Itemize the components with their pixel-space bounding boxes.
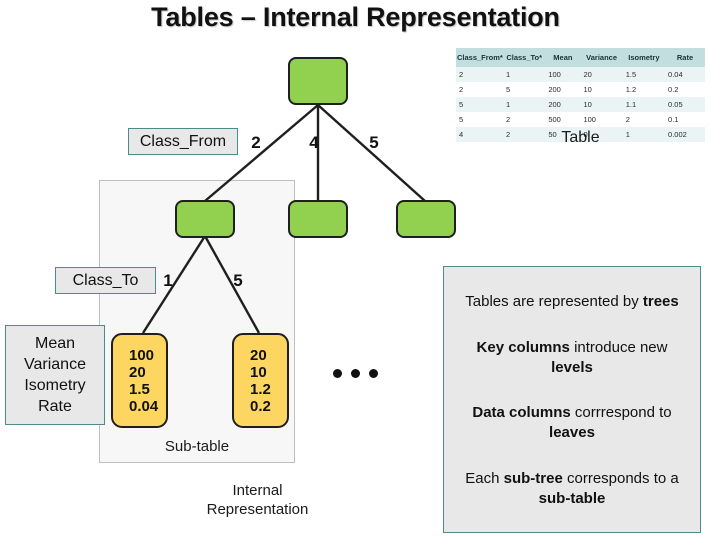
leaf-value: 1.5 bbox=[117, 381, 166, 398]
table-cell: 2 bbox=[456, 67, 503, 82]
leaf-value: 20 bbox=[117, 364, 166, 381]
leaf-value: 1.2 bbox=[238, 381, 287, 398]
table-cell: 100 bbox=[545, 67, 580, 82]
data-column-label-isometry: Isometry bbox=[24, 375, 85, 396]
table-cell: 100 bbox=[580, 112, 622, 127]
ellipsis-dot bbox=[333, 369, 342, 378]
edge-label-sub-1: 5 bbox=[231, 271, 245, 291]
table-cell: 0.05 bbox=[665, 97, 705, 112]
table-row: 2 5 200 10 1.2 0.2 bbox=[456, 82, 705, 97]
table-cell: 2 bbox=[623, 112, 665, 127]
table-header-cell: Class_To* bbox=[503, 48, 545, 67]
table-header-row: Class_From* Class_To* Mean Variance Isom… bbox=[456, 48, 705, 67]
table-cell: 200 bbox=[545, 97, 580, 112]
internal-representation-caption-line1: Internal bbox=[150, 481, 365, 500]
table-header-cell: Rate bbox=[665, 48, 705, 67]
table-row: 2 1 100 20 1.5 0.04 bbox=[456, 67, 705, 82]
data-column-label-mean: Mean bbox=[35, 333, 75, 354]
source-table: Class_From* Class_To* Mean Variance Isom… bbox=[456, 48, 705, 142]
table-header-cell: Variance bbox=[580, 48, 622, 67]
table-cell: 10 bbox=[580, 97, 622, 112]
tree-leaf-0[interactable]: 100 20 1.5 0.04 bbox=[111, 333, 168, 428]
internal-representation-caption-line2: Representation bbox=[150, 500, 365, 519]
data-column-label-variance: Variance bbox=[24, 354, 86, 375]
table-cell: 1.2 bbox=[623, 82, 665, 97]
table-cell: 5 bbox=[503, 82, 545, 97]
table-cell: 200 bbox=[545, 82, 580, 97]
leaf-value: 100 bbox=[117, 347, 166, 364]
edge-label-root-1: 4 bbox=[306, 133, 322, 153]
table-header-cell: Mean bbox=[545, 48, 580, 67]
sub-table-caption: Sub-table bbox=[99, 438, 295, 455]
table-cell: 5 bbox=[456, 97, 503, 112]
summary-box: Tables are represented by trees Key colu… bbox=[443, 266, 701, 533]
leaf-value: 0.04 bbox=[117, 398, 166, 415]
ellipsis-dot bbox=[369, 369, 378, 378]
table-row: 5 1 200 10 1.1 0.05 bbox=[456, 97, 705, 112]
summary-line-1: Key columns introduce new levels bbox=[458, 338, 686, 378]
table-cell: 0.04 bbox=[665, 67, 705, 82]
source-table-grid: Class_From* Class_To* Mean Variance Isom… bbox=[456, 48, 705, 142]
tree-node-root[interactable] bbox=[288, 57, 348, 105]
ellipsis-dot bbox=[351, 369, 360, 378]
summary-line-0: Tables are represented by trees bbox=[458, 292, 686, 312]
table-cell: 1 bbox=[503, 97, 545, 112]
ellipsis-indicator bbox=[333, 369, 378, 378]
leaf-value: 10 bbox=[238, 364, 287, 381]
table-caption: Table bbox=[456, 129, 705, 147]
table-header-cell: Class_From* bbox=[456, 48, 503, 67]
callout-class-to[interactable]: Class_To bbox=[55, 267, 156, 294]
edge-label-sub-0: 1 bbox=[161, 271, 175, 291]
table-cell: 10 bbox=[580, 82, 622, 97]
callout-class-from-label: Class_From bbox=[140, 131, 226, 152]
table-row: 5 2 500 100 2 0.1 bbox=[456, 112, 705, 127]
edge-label-root-0: 2 bbox=[248, 133, 264, 153]
table-cell: 5 bbox=[456, 112, 503, 127]
callout-data-columns[interactable]: Mean Variance Isometry Rate bbox=[5, 325, 105, 425]
table-cell: 1.5 bbox=[623, 67, 665, 82]
table-cell: 2 bbox=[456, 82, 503, 97]
callout-class-to-label: Class_To bbox=[73, 270, 139, 291]
tree-node-level2-left[interactable] bbox=[175, 200, 235, 238]
table-cell: 1 bbox=[503, 67, 545, 82]
tree-node-level2-middle[interactable] bbox=[288, 200, 348, 238]
table-cell: 500 bbox=[545, 112, 580, 127]
internal-representation-caption: Internal Representation bbox=[150, 481, 365, 519]
tree-leaf-1[interactable]: 20 10 1.2 0.2 bbox=[232, 333, 289, 428]
table-cell: 0.2 bbox=[665, 82, 705, 97]
callout-class-from[interactable]: Class_From bbox=[128, 128, 238, 155]
table-header-cell: Isometry bbox=[623, 48, 665, 67]
table-cell: 1.1 bbox=[623, 97, 665, 112]
table-cell: 0.1 bbox=[665, 112, 705, 127]
data-column-label-rate: Rate bbox=[38, 396, 72, 417]
leaf-value: 20 bbox=[238, 347, 287, 364]
tree-node-level2-right[interactable] bbox=[396, 200, 456, 238]
table-cell: 20 bbox=[580, 67, 622, 82]
summary-line-2: Data columns corrrespond to leaves bbox=[458, 403, 686, 443]
table-cell: 2 bbox=[503, 112, 545, 127]
leaf-value: 0.2 bbox=[238, 398, 287, 415]
summary-line-3: Each sub-tree corresponds to a sub-table bbox=[458, 469, 686, 509]
slide-canvas: Tables – Internal Representation 2 4 5 1… bbox=[0, 0, 711, 545]
edge-label-root-2: 5 bbox=[366, 133, 382, 153]
page-title: Tables – Internal Representation bbox=[0, 2, 711, 33]
